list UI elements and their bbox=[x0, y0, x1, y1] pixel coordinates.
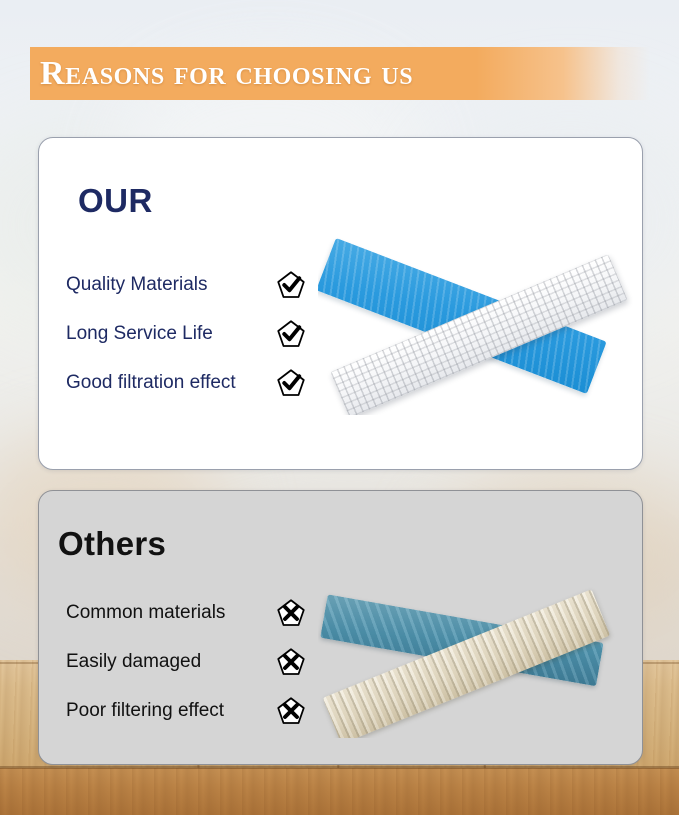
list-item: Good filtration effect bbox=[66, 358, 306, 407]
list-item: Long Service Life bbox=[66, 309, 306, 358]
promo-poster: Reasons for choosing us OUR Quality Mate… bbox=[0, 0, 679, 815]
list-item: Quality Materials bbox=[66, 260, 306, 309]
check-pentagon-icon bbox=[276, 319, 306, 349]
check-pentagon-icon bbox=[276, 270, 306, 300]
our-filter-strips-photo bbox=[318, 210, 638, 415]
others-heading: Others bbox=[58, 525, 166, 563]
wood-seam bbox=[0, 766, 679, 769]
cross-pentagon-icon bbox=[276, 598, 306, 628]
cross-pentagon-icon bbox=[276, 696, 306, 726]
our-feature-list: Quality Materials Long Service Life Good… bbox=[66, 260, 306, 407]
feature-label: Quality Materials bbox=[66, 274, 208, 296]
our-heading: OUR bbox=[78, 182, 153, 220]
check-pentagon-icon bbox=[276, 368, 306, 398]
feature-label: Easily damaged bbox=[66, 651, 201, 673]
wooden-table-edge bbox=[0, 768, 679, 815]
list-item: Common materials bbox=[66, 588, 306, 637]
feature-label: Poor filtering effect bbox=[66, 700, 224, 722]
others-filter-strips-photo bbox=[318, 558, 638, 738]
feature-label: Long Service Life bbox=[66, 323, 213, 345]
feature-label: Common materials bbox=[66, 602, 225, 624]
list-item: Easily damaged bbox=[66, 637, 306, 686]
others-feature-list: Common materials Easily damaged Poor fil… bbox=[66, 588, 306, 735]
list-item: Poor filtering effect bbox=[66, 686, 306, 735]
feature-label: Good filtration effect bbox=[66, 372, 236, 394]
cross-pentagon-icon bbox=[276, 647, 306, 677]
page-title: Reasons for choosing us bbox=[40, 50, 640, 98]
